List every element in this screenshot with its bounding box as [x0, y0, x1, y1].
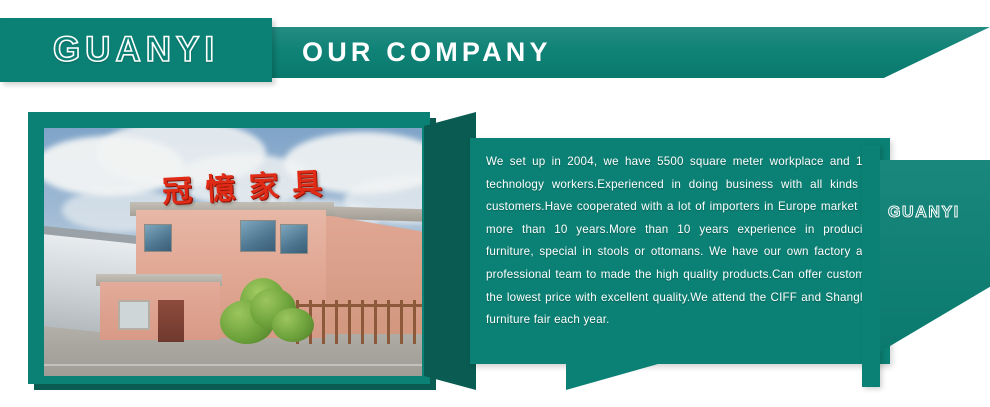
about-paragraph: We set up in 2004, we have 5500 square m… [486, 151, 876, 332]
brand-logo-text: GUANYI [0, 18, 272, 82]
brand-logo-block[interactable]: GUANYI [0, 18, 272, 82]
company-photo: 冠 憶 家 具 [44, 128, 430, 384]
right-flag-banner [880, 160, 990, 352]
ribbon-tail [566, 364, 658, 390]
page-title: OUR COMPANY [302, 27, 552, 78]
small-window [118, 300, 150, 330]
entrance-door [158, 300, 184, 342]
sign-char: 家 [247, 161, 279, 207]
side-brand-logo-text: GUANYI [888, 200, 988, 226]
sign-char: 冠 [161, 166, 193, 212]
sign-char: 憶 [204, 163, 236, 209]
right-vertical-strip [862, 145, 880, 387]
company-photo-frame[interactable]: 冠 憶 家 具 [28, 112, 430, 384]
rooftop-sign: 冠 憶 家 具 [161, 164, 323, 206]
road-marking [44, 364, 430, 366]
window-pane [144, 224, 172, 252]
photo-text-connector [424, 112, 476, 390]
page-root: OUR COMPANY GUANYI [0, 0, 990, 407]
sign-char: 具 [291, 159, 323, 205]
about-text-panel: We set up in 2004, we have 5500 square m… [470, 138, 890, 364]
right-flag-gradient [880, 160, 990, 352]
window-pane [280, 224, 308, 254]
bush-shape [272, 308, 314, 342]
scaffold-rail [296, 304, 430, 307]
window-pane [240, 220, 276, 252]
